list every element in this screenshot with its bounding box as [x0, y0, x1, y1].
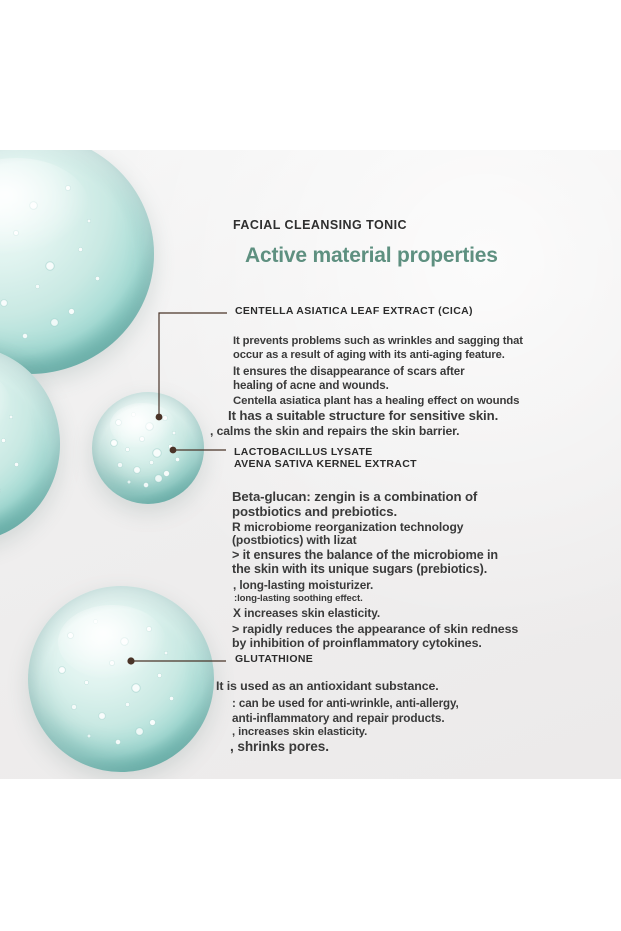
ingredient-body-line: Beta-glucan: zengin is a combination of	[232, 489, 477, 504]
ingredient-body-line: It ensures the disappearance of scars af…	[233, 365, 465, 378]
ingredient-title-lactobacillus: LACTOBACILLUS LYSATE	[234, 446, 373, 458]
ingredient-title-glutathione: GLUTATHIONE	[235, 653, 313, 665]
ingredient-body-line: It prevents problems such as wrinkles an…	[233, 335, 523, 347]
ingredient-body-line: healing of acne and wounds.	[233, 379, 389, 392]
ingredient-body-line: , calms the skin and repairs the skin ba…	[210, 424, 459, 438]
product-kicker: FACIAL CLEANSING TONIC	[233, 218, 407, 232]
ingredient-body-line: X increases skin elasticity.	[233, 606, 380, 620]
ingredient-body-line: It has a suitable structure for sensitiv…	[228, 408, 498, 423]
page-title: Active material properties	[245, 244, 498, 268]
ingredient-body-line: anti-inflammatory and repair products.	[232, 711, 445, 725]
ingredient-title-centella: CENTELLA ASIATICA LEAF EXTRACT (CICA)	[235, 305, 473, 317]
ingredient-body-line: by inhibition of proinflammatory cytokin…	[232, 636, 482, 650]
product-infographic-panel: FACIAL CLEANSING TONIC Active material p…	[0, 150, 621, 779]
text-content: FACIAL CLEANSING TONIC Active material p…	[0, 150, 621, 779]
ingredient-body-line: (postbiotics) with lizat	[232, 533, 357, 547]
ingredient-body-line: , long-lasting moisturizer.	[233, 578, 373, 592]
ingredient-body-line: R microbiome reorganization technology	[232, 520, 463, 534]
ingredient-body-line: postbiotics and prebiotics.	[232, 504, 397, 519]
ingredient-body-line: It is used as an antioxidant substance.	[216, 679, 439, 693]
ingredient-body-line: > it ensures the balance of the microbio…	[232, 548, 498, 562]
ingredient-body-line: , increases skin elasticity.	[232, 726, 367, 738]
ingredient-body-line: Centella asiatica plant has a healing ef…	[233, 395, 519, 407]
ingredient-body-line: : can be used for anti-wrinkle, anti-all…	[232, 697, 459, 710]
ingredient-body-line: occur as a result of aging with its anti…	[233, 349, 505, 361]
ingredient-body-line: the skin with its unique sugars (prebiot…	[232, 562, 487, 576]
ingredient-body-line: , shrinks pores.	[230, 739, 329, 754]
ingredient-body-line: > rapidly reduces the appearance of skin…	[232, 622, 518, 636]
ingredient-title-avena-sativa: AVENA SATIVA KERNEL EXTRACT	[234, 458, 417, 470]
ingredient-body-line: :long-lasting soothing effect.	[234, 593, 363, 604]
